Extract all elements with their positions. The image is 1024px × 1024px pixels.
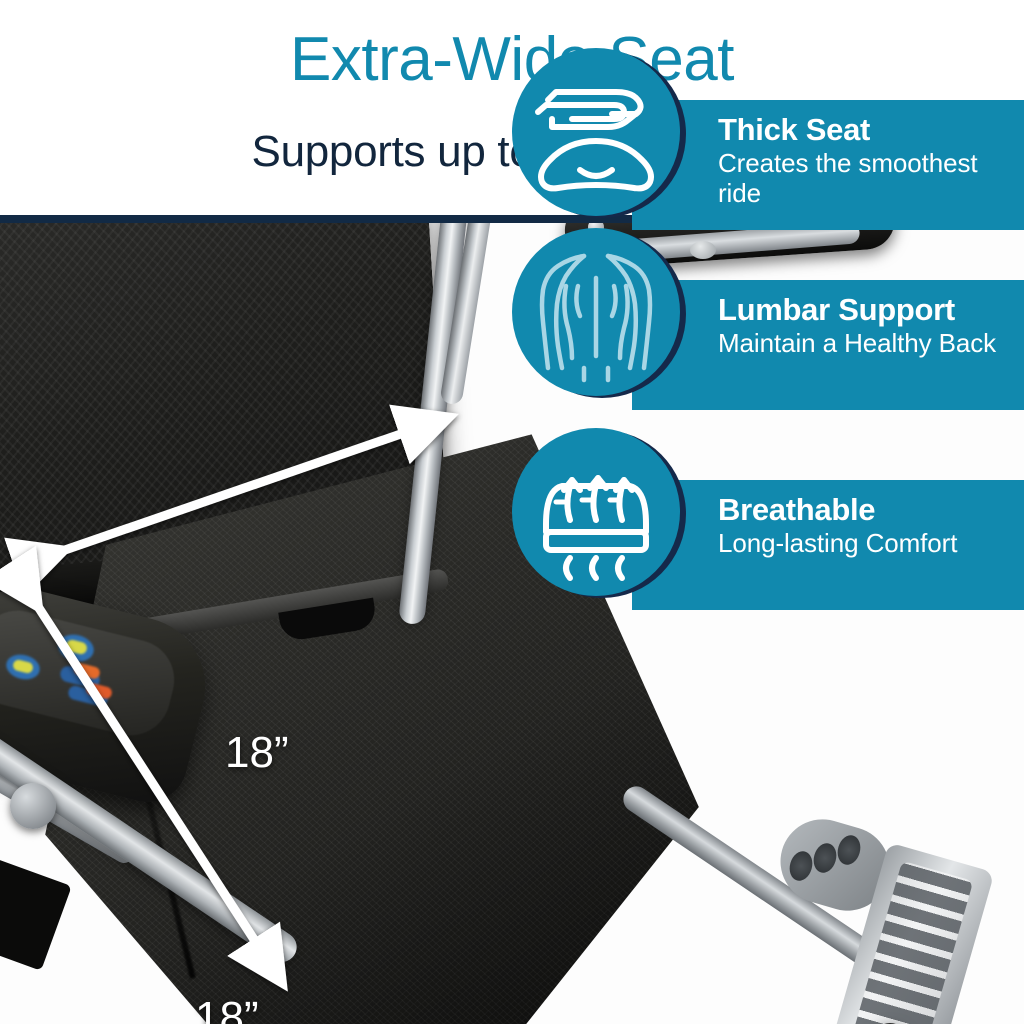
feature-title: Lumbar Support [718,291,1024,328]
infographic-page: Extra-Wide Seat Supports up to 265 pound… [0,0,1024,1024]
feature-title: Thick Seat [718,111,1024,148]
breathable-airflow-mattress-icon [512,428,680,596]
feature-text-bar: Breathable Long-lasting Comfort [632,480,1024,610]
feature-text-bar: Lumbar Support Maintain a Healthy Back [632,280,1024,410]
feature-text-bar: Thick Seat Creates the smoothest ride [632,100,1024,230]
feature-title: Breathable [718,491,1024,528]
feature-subtitle: Creates the smoothest ride [718,148,1018,208]
frame-pivot-bolt [10,783,56,829]
human-back-outline-icon [512,228,680,396]
feature-subtitle: Long-lasting Comfort [718,528,1018,558]
armrest-bolt-rear [690,241,716,259]
hand-over-cushion-icon [512,48,680,216]
feature-subtitle: Maintain a Healthy Back [718,328,1018,358]
